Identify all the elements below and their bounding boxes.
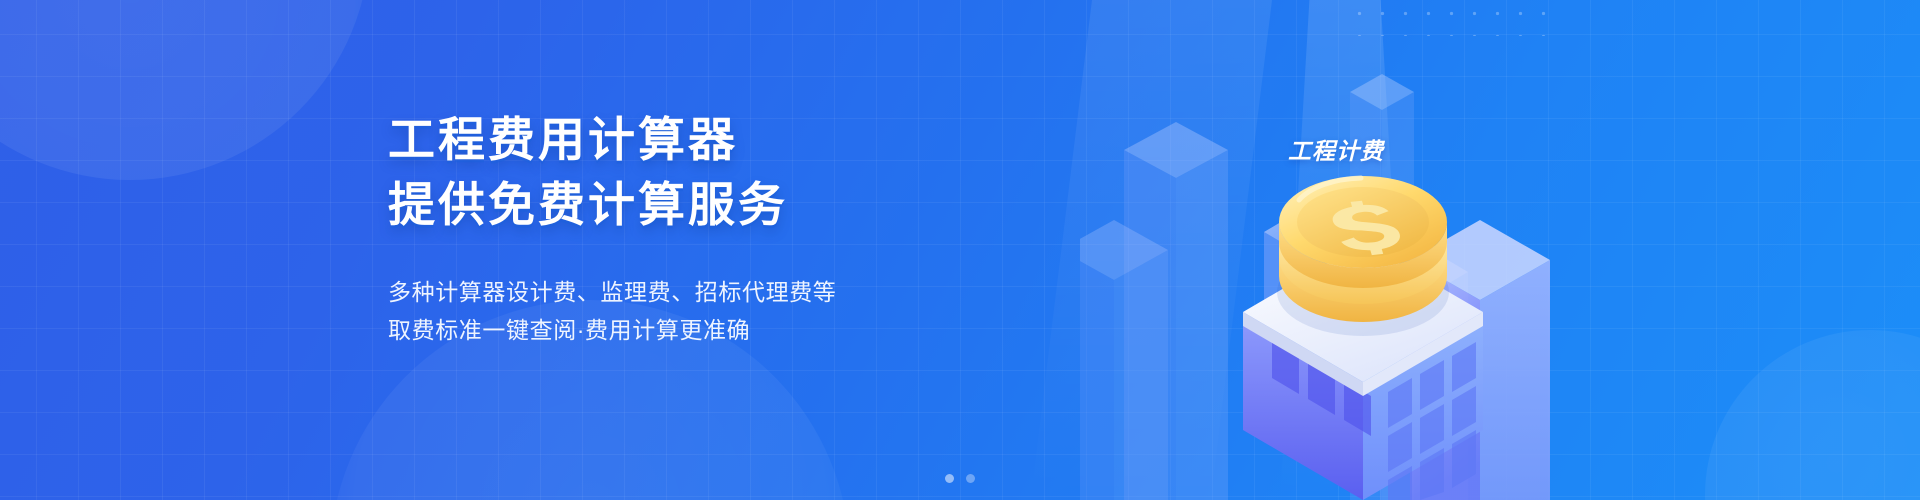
isometric-building-illustration [1080,0,1550,500]
background-block-left-small [1080,220,1168,500]
subtitle-line-1: 多种计算器设计费、监理费、招标代理费等 [388,273,1028,311]
coin-stack [1277,176,1449,336]
banner-headline: 工程费用计算器 提供免费计算服务 [388,112,1028,233]
decorative-circle-top-left [0,0,370,180]
engineering-fee-badge: 工程计费 [1288,132,1384,166]
decorative-circle-bottom-right [1705,330,1920,500]
promo-banner: 工程费用计算器 提供免费计算服务 多种计算器设计费、监理费、招标代理费等 取费标… [0,0,1920,500]
banner-copy: 工程费用计算器 提供免费计算服务 多种计算器设计费、监理费、招标代理费等 取费标… [388,112,1028,349]
carousel-dot-1[interactable] [945,474,954,483]
headline-line-1: 工程费用计算器 [388,112,1028,168]
carousel-indicators[interactable] [945,474,975,483]
subtitle-line-2: 取费标准一键查阅·费用计算更准确 [388,311,1028,349]
banner-subtitle: 多种计算器设计费、监理费、招标代理费等 取费标准一键查阅·费用计算更准确 [388,273,1028,349]
headline-line-2: 提供免费计算服务 [388,177,1028,233]
carousel-dot-2[interactable] [966,474,975,483]
